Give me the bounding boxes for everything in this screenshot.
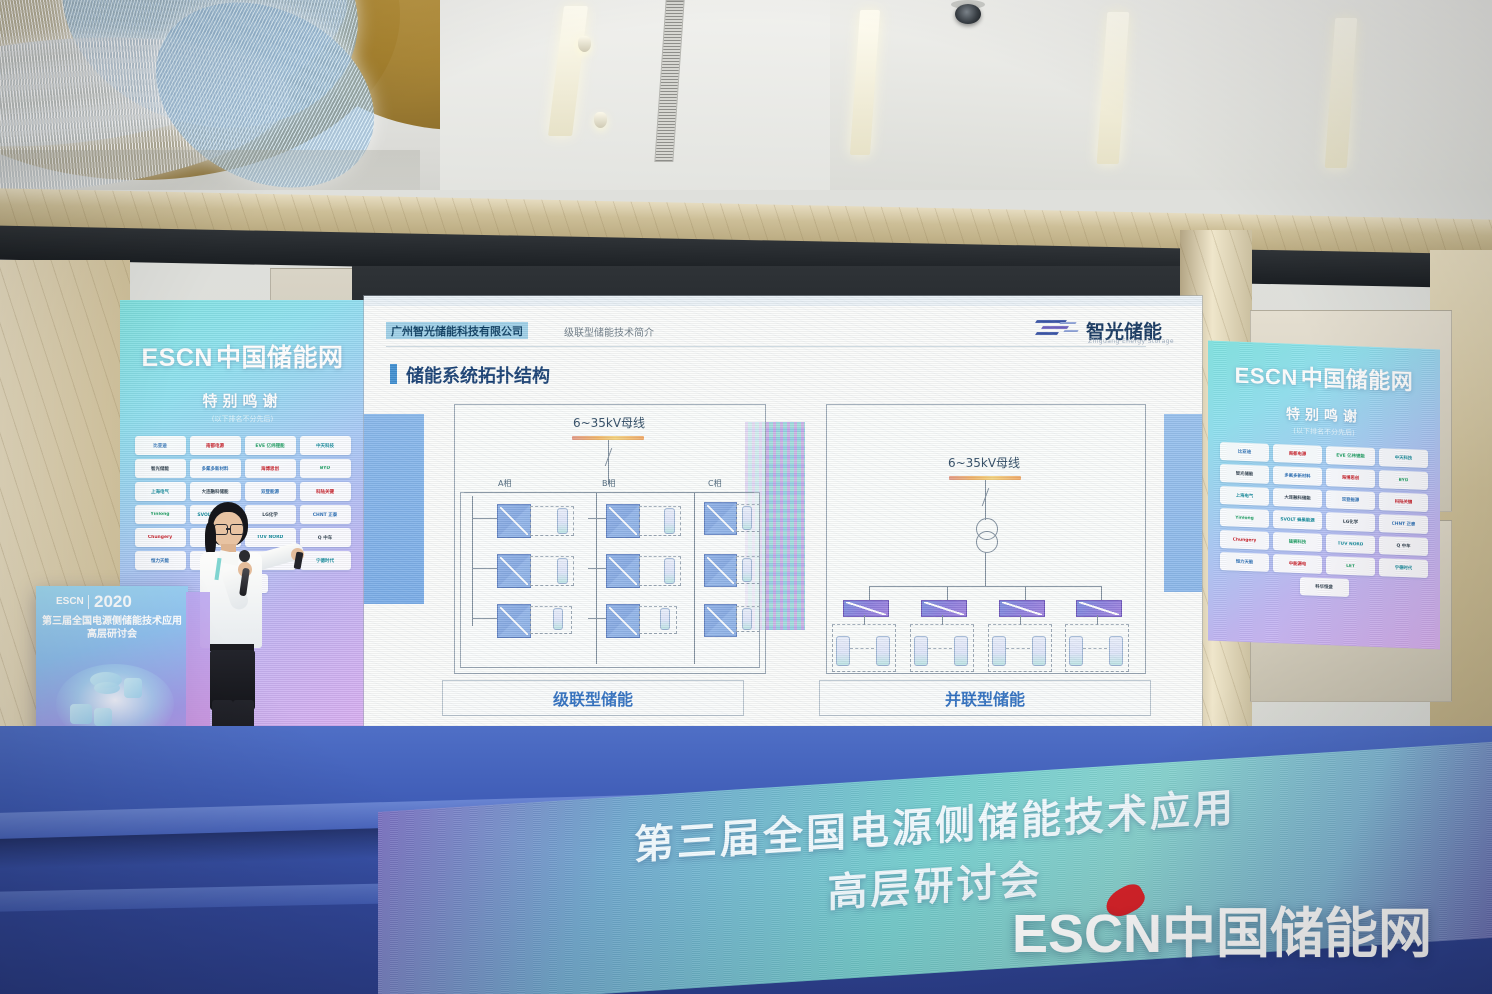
sponsor-logo-chip: 上海电气 bbox=[135, 482, 186, 501]
speaker-glasses-right-lens bbox=[230, 524, 244, 535]
sponsor-logo-chip: BYD bbox=[1379, 470, 1428, 490]
sponsor-logo-chip: 海博思创 bbox=[245, 459, 296, 478]
front-title-line2: 高层研讨会 bbox=[828, 857, 1043, 917]
cell-dash-group bbox=[736, 556, 760, 584]
left-phase-label-b: B相 bbox=[602, 478, 616, 489]
pcs-drop-wire bbox=[1097, 615, 1098, 625]
right-branch-drop-1 bbox=[869, 586, 870, 600]
sponsor-logo-label: 上海电气 bbox=[151, 489, 169, 495]
converter-cell bbox=[497, 604, 531, 638]
thanks-note-left: (以下排名不分先后) bbox=[212, 414, 273, 424]
podium-year: 2020 bbox=[94, 592, 132, 612]
slide-subtitle: 级联型储能技术简介 bbox=[564, 324, 654, 339]
sponsor-logo-chip: EVE 亿纬锂能 bbox=[245, 436, 296, 455]
cell-dash-group bbox=[639, 506, 681, 536]
podium-title-line2: 高层研讨会 bbox=[87, 629, 137, 640]
escn-logo-right: ESCN中国储能网 bbox=[1235, 358, 1414, 397]
right-branch-drop-3 bbox=[1025, 586, 1026, 600]
sponsor-logo-label: 科华恒盛 bbox=[1315, 584, 1333, 591]
converter-cell bbox=[606, 554, 640, 588]
right-bus-label: 6~35kV母线 bbox=[924, 454, 1044, 471]
pcs-drop-wire bbox=[1020, 615, 1021, 625]
sponsor-logo-label: 比亚迪 bbox=[153, 443, 167, 449]
sponsor-logo-label: 恒力天能 bbox=[151, 558, 169, 564]
sponsor-logo-label: 智光储能 bbox=[1236, 471, 1254, 478]
presenter-clicker bbox=[294, 552, 304, 570]
screen-artifact-left bbox=[364, 414, 424, 604]
security-camera-icon bbox=[955, 4, 981, 24]
sponsor-logo-label: SVOLT 蜂巢能源 bbox=[1280, 516, 1314, 523]
sponsor-logo-chip: 南都电源 bbox=[1273, 444, 1322, 464]
converter-cell bbox=[704, 502, 737, 535]
screen-artifact-right bbox=[1164, 414, 1202, 592]
converter-cell bbox=[704, 554, 737, 587]
pcs-drop-wire bbox=[942, 615, 943, 625]
zhiguang-brand-en: Zhiguang Energy Storage bbox=[1088, 338, 1174, 345]
speaker-hair-back bbox=[205, 522, 216, 556]
sponsor-logo-label: 科陆关键 bbox=[1395, 499, 1413, 506]
speaker-glasses-bridge bbox=[226, 528, 230, 530]
header-divider bbox=[386, 346, 1146, 347]
sponsor-logo-label: BYD bbox=[320, 466, 330, 471]
sponsor-logo-label: LG化学 bbox=[1343, 519, 1358, 526]
sponsor-logo-chip: LET bbox=[1326, 556, 1375, 576]
sponsor-logo-chip: EVE 亿纬锂能 bbox=[1326, 446, 1375, 466]
sponsor-logo-chip: 大连融科储能 bbox=[190, 482, 241, 501]
sponsor-logo-chip: Chungery bbox=[135, 528, 186, 547]
sponsor-logo-chip: 南都电源 bbox=[190, 436, 241, 455]
pcs-inverter bbox=[999, 600, 1045, 617]
sponsor-logo-chip: CHNT 正泰 bbox=[1379, 514, 1428, 534]
pcs-inverter bbox=[1076, 600, 1122, 617]
sponsor-logo-label: 多氟多新材料 bbox=[1284, 472, 1310, 479]
left-caption-text: 级联型储能 bbox=[553, 686, 633, 710]
sponsor-logo-label: 南都电源 bbox=[206, 443, 224, 449]
thanks-note-right: (以下排名不分先后) bbox=[1293, 426, 1354, 438]
sponsor-logo-chip: 多氟多新材料 bbox=[190, 459, 241, 478]
podium-escn-text: ESCN bbox=[56, 596, 84, 607]
escn-wordmark-cn: 中国储能网 bbox=[216, 343, 344, 372]
cell-dash-group bbox=[639, 556, 681, 586]
zhiguang-logo-mark bbox=[1034, 318, 1080, 342]
sponsor-logo-chip: BYD bbox=[300, 459, 351, 478]
sponsor-logo-label: CHNT 正泰 bbox=[1392, 521, 1416, 528]
slide-top-band bbox=[364, 296, 1202, 306]
sponsor-logo-chip: 猛狮科技 bbox=[1273, 532, 1322, 552]
battery-ellipsis-line bbox=[1006, 648, 1030, 649]
battery-rack bbox=[1032, 636, 1046, 666]
converter-cell bbox=[704, 604, 737, 637]
cell-dash-group bbox=[639, 606, 677, 634]
cell-dash-group bbox=[736, 606, 760, 632]
thanks-title-left: 特别鸣谢 bbox=[202, 390, 282, 411]
cell-dash-group bbox=[530, 556, 574, 586]
watermark-text-cn: 中国储能网 bbox=[1162, 902, 1432, 965]
thanks-title-right: 特别鸣谢 bbox=[1286, 404, 1362, 427]
right-transformer-down-wire bbox=[985, 552, 986, 586]
sponsor-logo-chip: Q 中车 bbox=[1379, 536, 1428, 556]
section-title: 储能系统拓扑结构 bbox=[406, 362, 550, 388]
pcs-inverter bbox=[921, 600, 967, 617]
sponsor-logo-label: 海博思创 bbox=[261, 466, 279, 472]
cell-dash-group bbox=[736, 504, 760, 532]
sponsor-logo-chip: 双登能源 bbox=[1326, 490, 1375, 510]
company-tag: 广州智光储能科技有限公司 bbox=[386, 322, 528, 339]
sponsor-logo-label: 南都电源 bbox=[1289, 451, 1307, 458]
sponsor-logo-label: 科陆关键 bbox=[316, 489, 334, 495]
sponsor-logo-label: Chungery bbox=[148, 535, 172, 540]
sponsor-logo-label: 中天科技 bbox=[1395, 455, 1413, 462]
sponsor-logo-label: 大连融科储能 bbox=[1284, 494, 1310, 501]
sponsor-logo-grid-right: 比亚迪南都电源EVE 亿纬锂能中天科技智光储能多氟多新材料海博思创BYD上海电气… bbox=[1215, 440, 1433, 602]
sponsor-logo-label: 上海电气 bbox=[1236, 493, 1254, 500]
escn-logo-left: ESCN中国储能网 bbox=[142, 338, 344, 374]
right-branch-drop-2 bbox=[947, 586, 948, 600]
right-branch-bus bbox=[869, 586, 1101, 587]
pcs-drop-wire bbox=[864, 615, 865, 625]
sponsor-logo-label: 比亚迪 bbox=[1238, 449, 1251, 456]
battery-rack bbox=[954, 636, 968, 666]
sponsor-logo-chip: 上海电气 bbox=[1220, 486, 1269, 506]
left-phase-bus-horizontal bbox=[464, 492, 754, 493]
sponsor-logo-chip: 中天科技 bbox=[1379, 448, 1428, 468]
ceiling-spotlight-1 bbox=[578, 36, 591, 52]
converter-cell bbox=[606, 604, 640, 638]
escn-wordmark-right: ESCN bbox=[1235, 363, 1298, 390]
presentation-slide: 广州智光储能科技有限公司 级联型储能技术简介 智光储能 Zhiguang Ene… bbox=[364, 296, 1202, 744]
sponsor-logo-label: 双登能源 bbox=[1342, 497, 1360, 504]
sponsor-logo-label: BYD bbox=[1399, 477, 1409, 482]
sponsor-logo-label: 猛狮科技 bbox=[1289, 539, 1307, 546]
cell-tap-wire bbox=[588, 618, 606, 619]
escn-wordmark-cn-right: 中国储能网 bbox=[1301, 366, 1414, 395]
sponsor-logo-label: Yinlong bbox=[1235, 515, 1254, 521]
sponsor-logo-label: 多氟多新材料 bbox=[202, 466, 229, 472]
converter-cell bbox=[497, 504, 531, 538]
sponsor-logo-label: TUV NORD bbox=[1338, 541, 1364, 547]
sponsor-logo-chip: TUV NORD bbox=[1326, 534, 1375, 554]
cell-tap-wire bbox=[588, 568, 606, 569]
battery-ellipsis-line bbox=[1083, 648, 1107, 649]
sponsor-logo-chip: 中天科技 bbox=[300, 436, 351, 455]
cell-dash-group bbox=[530, 606, 572, 634]
podium-artwork-block bbox=[94, 682, 120, 694]
sponsor-logo-label: 智光储能 bbox=[151, 466, 169, 472]
podium-artwork-block bbox=[70, 704, 92, 724]
sponsor-logo-chip: Yinlong bbox=[135, 505, 186, 524]
cell-tap-wire bbox=[472, 518, 497, 519]
sponsor-logo-label: Yinlong bbox=[150, 512, 169, 517]
sponsor-logo-label: Q 中车 bbox=[1396, 543, 1410, 550]
sponsor-logo-label: 恒力天能 bbox=[1236, 559, 1254, 566]
sponsor-logo-chip: LG化学 bbox=[1326, 512, 1375, 532]
sponsor-logo-chip: SVOLT 蜂巢能源 bbox=[1273, 510, 1322, 530]
sponsor-logo-label: EVE 亿纬锂能 bbox=[255, 443, 284, 449]
sponsor-logo-label: 大连融科储能 bbox=[202, 489, 229, 495]
cell-tap-wire bbox=[472, 618, 497, 619]
sponsor-logo-label: 海博思创 bbox=[1342, 475, 1360, 482]
cell-dash-group bbox=[530, 506, 574, 536]
podium-artwork-block bbox=[124, 678, 142, 698]
battery-ellipsis-line bbox=[928, 648, 952, 649]
cell-tap-wire bbox=[588, 518, 606, 519]
pcs-inverter bbox=[843, 600, 889, 617]
sponsor-logo-chip: 多氟多新材料 bbox=[1273, 466, 1322, 486]
sponsor-logo-chip: Yinlong bbox=[1220, 508, 1269, 528]
sponsor-logo-chip: 宁德时代 bbox=[1379, 558, 1428, 578]
sponsor-logo-label: 宁德时代 bbox=[1395, 565, 1413, 572]
phase-a-riser bbox=[472, 496, 473, 626]
podium-title-line1: 第三届全国电源侧储能技术应用 bbox=[42, 616, 182, 627]
podium-title: 第三届全国电源侧储能技术应用 高层研讨会 bbox=[36, 616, 188, 641]
battery-rack bbox=[1109, 636, 1123, 666]
ceiling-panel-center bbox=[440, 0, 860, 217]
watermark-text: ESCN bbox=[1012, 904, 1162, 964]
podium-artwork-block bbox=[94, 708, 112, 726]
sponsor-logo-chip: 大连融科储能 bbox=[1273, 488, 1322, 508]
converter-cell bbox=[606, 504, 640, 538]
section-accent-bar bbox=[390, 364, 397, 384]
battery-rack bbox=[992, 636, 1006, 666]
conference-photo: ESCN中国储能网 特别鸣谢 (以下排名不分先后) 比亚迪南都电源EVE 亿纬锂… bbox=[0, 0, 1492, 994]
sponsor-logo-label: Chungery bbox=[1233, 537, 1257, 543]
side-led-panel-right: ESCN中国储能网 特别鸣谢 (以下排名不分先后) 比亚迪南都电源EVE 亿纬锂… bbox=[1208, 341, 1440, 650]
sponsor-logo-label: EVE 亿纬锂能 bbox=[1336, 452, 1365, 459]
sponsor-logo-chip: 海博思创 bbox=[1326, 468, 1375, 488]
left-phase-label-c: C相 bbox=[708, 478, 722, 489]
sponsor-logo-chip: Chungery bbox=[1220, 530, 1269, 550]
sponsor-logo-chip: 智光储能 bbox=[135, 459, 186, 478]
sponsor-logo-chip: 比亚迪 bbox=[135, 436, 186, 455]
sponsor-logo-chip: 比亚迪 bbox=[1220, 442, 1269, 462]
watermark: ESCN中国储能网 bbox=[1012, 889, 1432, 968]
cell-tap-wire bbox=[472, 568, 497, 569]
ceiling-spotlight-2 bbox=[594, 112, 607, 128]
sponsor-logo-label: 中天科技 bbox=[316, 443, 334, 449]
left-phase-divider-2 bbox=[694, 492, 695, 664]
sponsor-logo-chip: 双登能源 bbox=[245, 482, 296, 501]
battery-rack bbox=[914, 636, 928, 666]
right-caption-text: 并联型储能 bbox=[945, 686, 1025, 710]
battery-rack bbox=[1069, 636, 1083, 666]
transformer-icon bbox=[972, 518, 1000, 554]
sponsor-logo-chip: 中能源电 bbox=[1273, 554, 1322, 574]
podium-escn-logo: ESCN bbox=[56, 596, 84, 607]
escn-wordmark: ESCN bbox=[142, 344, 213, 372]
right-branch-drop-4 bbox=[1101, 586, 1102, 600]
sponsor-logo-label: LET bbox=[1346, 563, 1355, 568]
left-phase-label-a: A相 bbox=[498, 478, 511, 489]
right-diagram-caption: 并联型储能 bbox=[819, 680, 1151, 716]
sponsor-logo-chip: 恒力天能 bbox=[135, 551, 186, 570]
sponsor-logo-chip: 智光储能 bbox=[1220, 464, 1269, 484]
microphone-head bbox=[239, 550, 250, 562]
sponsor-logo-chip: 恒力天能 bbox=[1220, 552, 1269, 572]
sponsor-logo-chip: 科华恒盛 bbox=[1300, 577, 1349, 597]
sponsor-logo-chip: 科陆关键 bbox=[300, 482, 351, 501]
battery-rack bbox=[876, 636, 890, 666]
left-diagram-caption: 级联型储能 bbox=[442, 680, 744, 716]
battery-rack bbox=[836, 636, 850, 666]
sponsor-logo-label: 双登能源 bbox=[261, 489, 279, 495]
left-bus-label: 6~35kV母线 bbox=[549, 414, 669, 431]
converter-cell bbox=[497, 554, 531, 588]
sponsor-logo-chip: 科陆关键 bbox=[1379, 492, 1428, 512]
sponsor-logo-label: 中能源电 bbox=[1289, 561, 1307, 568]
battery-ellipsis-line bbox=[850, 648, 874, 649]
